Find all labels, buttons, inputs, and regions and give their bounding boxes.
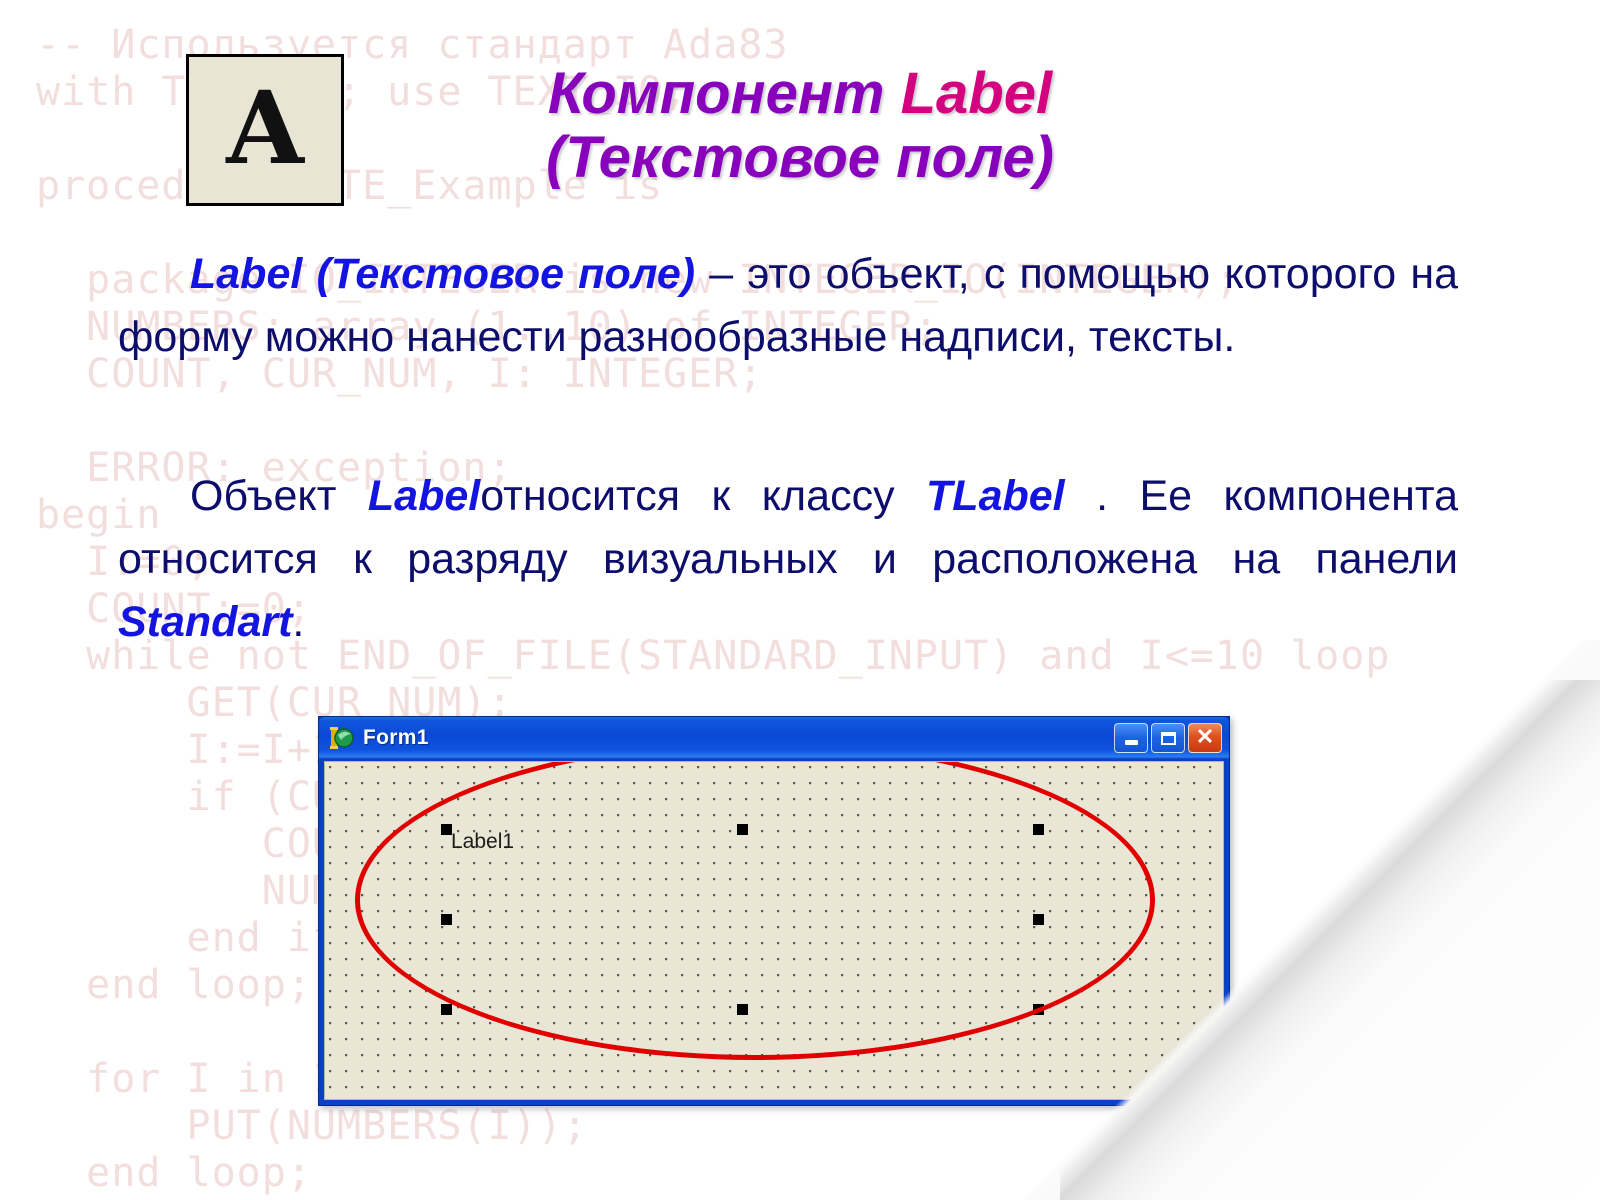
label-component-icon: A	[186, 54, 344, 206]
maximize-icon	[1161, 732, 1176, 745]
red-ellipse-annotation	[355, 761, 1155, 1060]
selection-handle-bottom-center[interactable]	[737, 1004, 748, 1015]
minimize-button[interactable]	[1114, 723, 1148, 753]
selection-handle-top-center[interactable]	[737, 824, 748, 835]
selection-handle-top-right[interactable]	[1033, 824, 1044, 835]
term-tlabel: TLabel	[926, 472, 1065, 520]
term-label-textfield: Label (Текстовое поле)	[190, 250, 695, 298]
para2-tail: .	[292, 598, 304, 646]
window-title-text: Form1	[363, 726, 429, 750]
selection-handle-bottom-right[interactable]	[1033, 1004, 1044, 1015]
page-title: Компонент Label (Текстовое поле)	[420, 62, 1180, 190]
para2-lead: Объект	[190, 472, 368, 520]
icon-letter-a: A	[226, 78, 304, 178]
title-line1-prefix: Компонент	[548, 61, 901, 126]
term-standart: Standart	[118, 598, 292, 646]
selection-handle-middle-right[interactable]	[1033, 914, 1044, 925]
window-titlebar[interactable]: Form1 ✕	[319, 717, 1229, 759]
paragraph-definition: Label (Текстовое поле) – это объект, с п…	[118, 243, 1458, 369]
title-line2: (Текстовое поле)	[546, 125, 1054, 190]
selection-handle-middle-left[interactable]	[441, 914, 452, 925]
paragraph-class-info: Объект Labelотносится к классу TLabel . …	[118, 465, 1458, 654]
close-button[interactable]: ✕	[1188, 723, 1222, 753]
slide-root: -- Используется стандарт Ada83 with TEXT…	[0, 0, 1600, 1200]
minimize-icon	[1125, 740, 1138, 745]
delphi-form-window[interactable]: Form1 ✕ La	[318, 716, 1230, 1106]
title-line1-accent: Label	[901, 61, 1053, 126]
label1-component[interactable]: Label1	[451, 830, 514, 854]
form-design-canvas[interactable]: Label1	[324, 761, 1224, 1100]
selection-handle-bottom-left[interactable]	[441, 1004, 452, 1015]
para2-mid1: относится к классу	[480, 472, 926, 520]
maximize-button[interactable]	[1151, 723, 1185, 753]
term-label: Label	[368, 472, 480, 520]
window-controls: ✕	[1114, 723, 1225, 753]
close-icon: ✕	[1196, 726, 1214, 748]
delphi-icon	[329, 725, 355, 751]
